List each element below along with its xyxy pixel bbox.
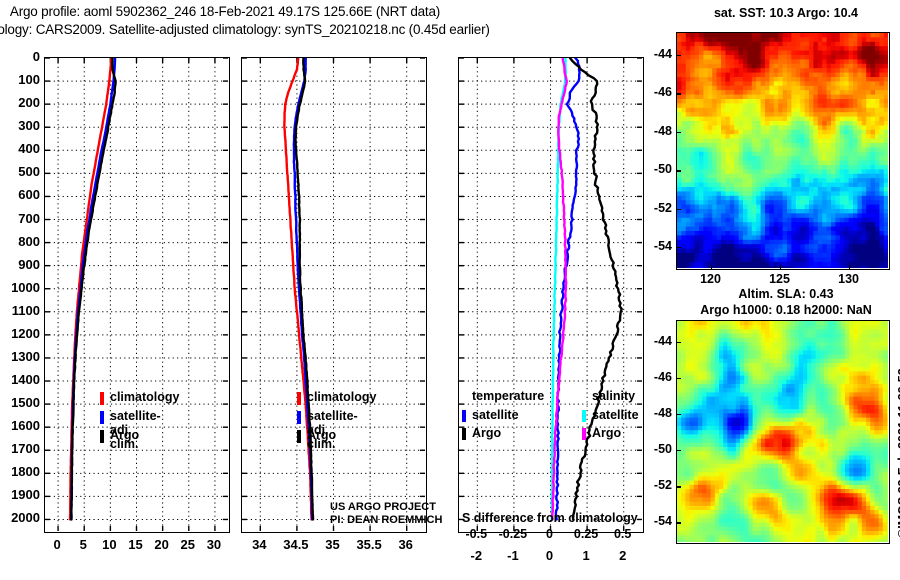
- temperature-difference-tick-label: -2: [456, 548, 496, 563]
- legend-item: Argo: [582, 425, 635, 443]
- legend-color-swatch: [100, 430, 104, 443]
- legend-label: climatology: [307, 390, 376, 404]
- legend-item: satellite: [582, 407, 635, 425]
- depth-tick-label: 1700: [0, 441, 40, 456]
- legend-color-swatch: [100, 411, 104, 424]
- latitude-tick-mark: [676, 132, 681, 133]
- latitude-tick-mark: [676, 55, 681, 56]
- legend-item: satellite: [462, 407, 544, 425]
- legend-color-swatch: [297, 430, 301, 443]
- sla-map-header-line1: Altim. SLA: 0.43: [672, 287, 900, 301]
- depth-tick-label: 100: [0, 72, 40, 87]
- depth-tick-label: 2000: [0, 510, 40, 525]
- latitude-tick-label: -50: [632, 162, 672, 176]
- latitude-tick-mark: [676, 486, 681, 487]
- temperature-profile-panel: [44, 57, 230, 533]
- legend-group-title: salinity: [582, 389, 635, 407]
- credit-project: US ARGO PROJECT: [330, 501, 436, 513]
- latitude-tick-label: -54: [632, 514, 672, 528]
- longitude-tick-mark: [711, 265, 712, 270]
- latitude-tick-mark: [676, 342, 681, 343]
- imos-credit: ©IMOS 23-Feb-2021 11:39:52: [896, 368, 900, 538]
- depth-tick-label: 0: [0, 49, 40, 64]
- temperature-difference-tick-label: 1: [566, 548, 606, 563]
- temperature-difference-tick-label: 2: [603, 548, 643, 563]
- temperature-profile-plot: [45, 58, 228, 531]
- depth-tick-label: 1500: [0, 395, 40, 410]
- latitude-tick-mark: [676, 450, 681, 451]
- legend-label: Argo: [472, 426, 501, 440]
- depth-tick-label: 1800: [0, 464, 40, 479]
- depth-tick-label: 1100: [0, 303, 40, 318]
- depth-tick-label: 500: [0, 164, 40, 179]
- legend-item: Argo: [462, 425, 544, 443]
- latitude-tick-label: -54: [632, 239, 672, 253]
- latitude-tick-mark: [676, 378, 681, 379]
- depth-tick-label: 1200: [0, 326, 40, 341]
- temperature-difference-tick-label: -1: [493, 548, 533, 563]
- longitude-tick-label: 125: [758, 272, 802, 286]
- longitude-tick-mark: [849, 265, 850, 270]
- sst-map-image: [677, 33, 888, 268]
- depth-tick-label: 700: [0, 211, 40, 226]
- sla-map-image: [677, 321, 888, 542]
- legend-color-swatch: [582, 410, 586, 422]
- latitude-tick-mark: [676, 247, 681, 248]
- sst-map-header: sat. SST: 10.3 Argo: 10.4: [672, 6, 900, 20]
- depth-tick-label: 1600: [0, 418, 40, 433]
- longitude-tick-label: 130: [827, 272, 871, 286]
- page-title-line2: Climatology: CARS2009. Satellite-adjuste…: [0, 22, 675, 37]
- legend-color-swatch: [582, 428, 586, 440]
- depth-tick-label: 600: [0, 187, 40, 202]
- depth-tick-label: 1300: [0, 349, 40, 364]
- legend-color-swatch: [297, 392, 301, 405]
- legend-group: temperaturesatelliteArgo: [462, 389, 544, 443]
- latitude-tick-label: -48: [632, 406, 672, 420]
- depth-tick-label: 200: [0, 95, 40, 110]
- legend-color-swatch: [462, 428, 466, 440]
- difference-profile-plot: [459, 58, 642, 531]
- depth-tick-label: 400: [0, 141, 40, 156]
- depth-tick-label: 800: [0, 234, 40, 249]
- latitude-tick-label: -46: [632, 85, 672, 99]
- sst-map-panel: [676, 32, 890, 270]
- legend-group: salinitysatelliteArgo: [582, 389, 635, 443]
- latitude-tick-label: -50: [632, 442, 672, 456]
- legend-color-swatch: [462, 410, 466, 422]
- sla-map-header-line2: Argo h1000: 0.18 h2000: NaN: [672, 303, 900, 317]
- difference-profile-panel: [458, 57, 644, 533]
- latitude-tick-label: -46: [632, 370, 672, 384]
- longitude-tick-mark: [780, 265, 781, 270]
- latitude-tick-mark: [676, 522, 681, 523]
- depth-tick-label: 300: [0, 118, 40, 133]
- legend-color-swatch: [297, 411, 301, 424]
- latitude-tick-mark: [676, 414, 681, 415]
- legend-label: satellite: [472, 408, 519, 422]
- latitude-tick-mark: [676, 170, 681, 171]
- latitude-tick-label: -52: [632, 201, 672, 215]
- temperature-difference-tick-label: 0: [530, 548, 570, 563]
- longitude-tick-label: 120: [689, 272, 733, 286]
- legend-label: Argo: [307, 428, 336, 442]
- legend-group-title: temperature: [462, 389, 544, 407]
- depth-tick-label: 1000: [0, 280, 40, 295]
- credit-pi: PI: DEAN ROEMMICH: [330, 514, 442, 526]
- legend-color-swatch: [100, 392, 104, 405]
- depth-tick-label: 1400: [0, 372, 40, 387]
- salinity-tick-label: 36: [381, 537, 431, 552]
- difference-salinity-axis-label: S difference from climatology: [462, 511, 638, 525]
- legend-label: Argo: [592, 426, 621, 440]
- salinity-profile-panel: [241, 57, 427, 533]
- legend-label: climatology: [110, 390, 179, 404]
- salinity-profile-plot: [242, 58, 425, 531]
- sla-map-panel: [676, 320, 890, 544]
- latitude-tick-label: -44: [632, 334, 672, 348]
- latitude-tick-label: -48: [632, 124, 672, 138]
- latitude-tick-mark: [676, 209, 681, 210]
- page-title-line1: Argo profile: aoml 5902362_246 18-Feb-20…: [0, 4, 675, 19]
- temperature-tick-label: 30: [194, 537, 234, 552]
- depth-tick-label: 900: [0, 257, 40, 272]
- depth-tick-label: 1900: [0, 487, 40, 502]
- latitude-tick-label: -52: [632, 478, 672, 492]
- latitude-tick-mark: [676, 93, 681, 94]
- latitude-tick-label: -44: [632, 47, 672, 61]
- salinity-difference-tick-label: 0.5: [598, 527, 648, 541]
- legend-label: Argo: [110, 428, 139, 442]
